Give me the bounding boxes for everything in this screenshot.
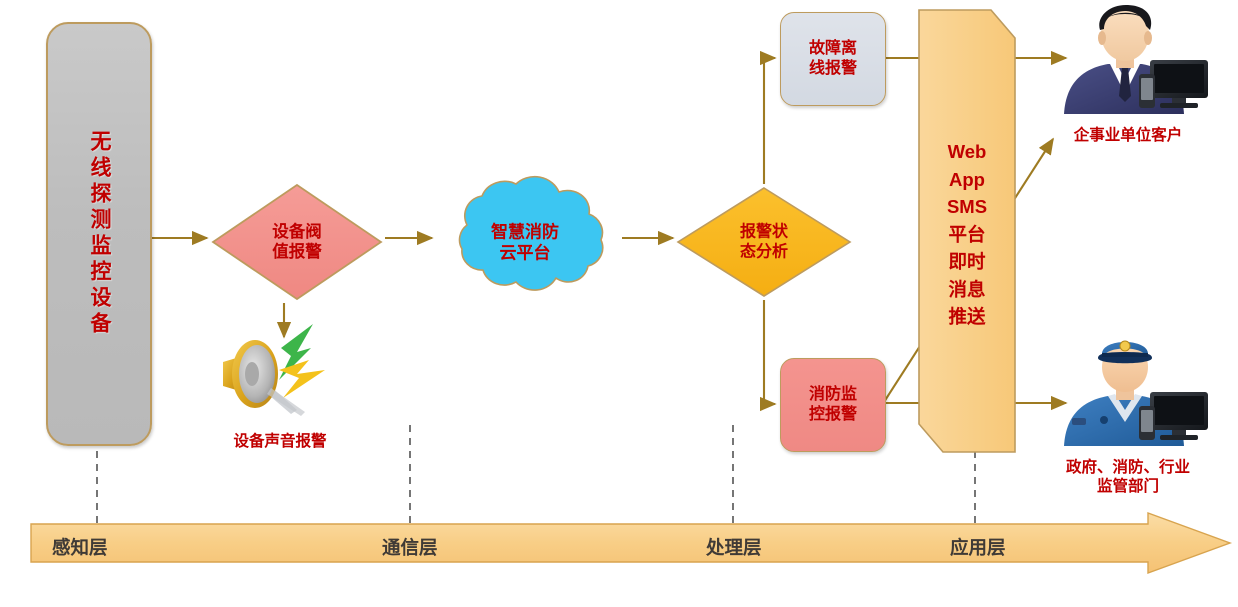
arrow-state-to-fault [764, 58, 775, 184]
node-fault-offline-alarm-label: 故障离 线报警 [809, 39, 857, 78]
node-state-analysis-label: 报警状 态分析 [676, 222, 852, 261]
node-push-channels[interactable]: Web App SMS 平台 即时 消息 推送 [917, 8, 1017, 454]
node-enterprise-client-caption: 企事业单位客户 [1038, 127, 1218, 146]
node-enterprise-client[interactable]: 企事业单位客户 [1038, 2, 1218, 146]
speaker-icon [205, 318, 355, 426]
push-channel-line-2: SMS [947, 198, 987, 217]
node-sound-alarm[interactable]: 设备声音报警 [205, 318, 355, 452]
push-channel-line-6: 推送 [948, 308, 985, 327]
node-fire-monitor-alarm-label: 消防监 控报警 [809, 385, 857, 424]
layer-label-communication: 通信层 [382, 534, 438, 560]
push-channel-line-1: App [949, 171, 985, 190]
node-sound-alarm-caption: 设备声音报警 [205, 433, 355, 452]
node-fire-monitor-alarm[interactable]: 消防监 控报警 [780, 358, 886, 452]
layer-label-list: 感知层 通信层 处理层 应用层 [30, 512, 1234, 574]
layer-progress-arrow: 感知层 通信层 处理层 应用层 [30, 512, 1234, 602]
node-sensing-device-label: 无线探测监控设备 [84, 130, 114, 338]
diagram-canvas: 无线探测监控设备 设备阀 值报警 [0, 0, 1238, 607]
node-state-analysis[interactable]: 报警状 态分析 [676, 186, 852, 298]
push-channel-line-5: 消息 [948, 281, 985, 300]
node-sensing-device[interactable]: 无线探测监控设备 [46, 22, 152, 446]
layer-label-sensing: 感知层 [52, 534, 108, 560]
node-fault-offline-alarm[interactable]: 故障离 线报警 [780, 12, 886, 106]
push-channel-line-list: Web App SMS 平台 即时 消息 推送 [917, 8, 1017, 454]
layer-label-processing: 处理层 [706, 534, 762, 560]
node-threshold-alarm[interactable]: 设备阀 值报警 [211, 183, 383, 301]
push-channel-line-4: 即时 [948, 253, 985, 272]
layer-label-application: 应用层 [950, 534, 1006, 560]
businessman-with-monitor-icon [1038, 2, 1218, 120]
node-government-client-caption: 政府、消防、行业 监管部门 [1038, 459, 1218, 497]
node-threshold-alarm-label: 设备阀 值报警 [211, 222, 383, 262]
arrow-state-to-fire [764, 300, 775, 404]
police-officer-with-monitor-icon [1038, 334, 1218, 452]
push-channel-line-0: Web [948, 143, 987, 162]
push-channel-line-3: 平台 [948, 226, 985, 245]
node-cloud-platform[interactable]: 智慧消防 云平台 [420, 173, 630, 313]
node-government-client[interactable]: 政府、消防、行业 监管部门 [1038, 334, 1218, 497]
node-cloud-platform-label: 智慧消防 云平台 [420, 222, 630, 263]
